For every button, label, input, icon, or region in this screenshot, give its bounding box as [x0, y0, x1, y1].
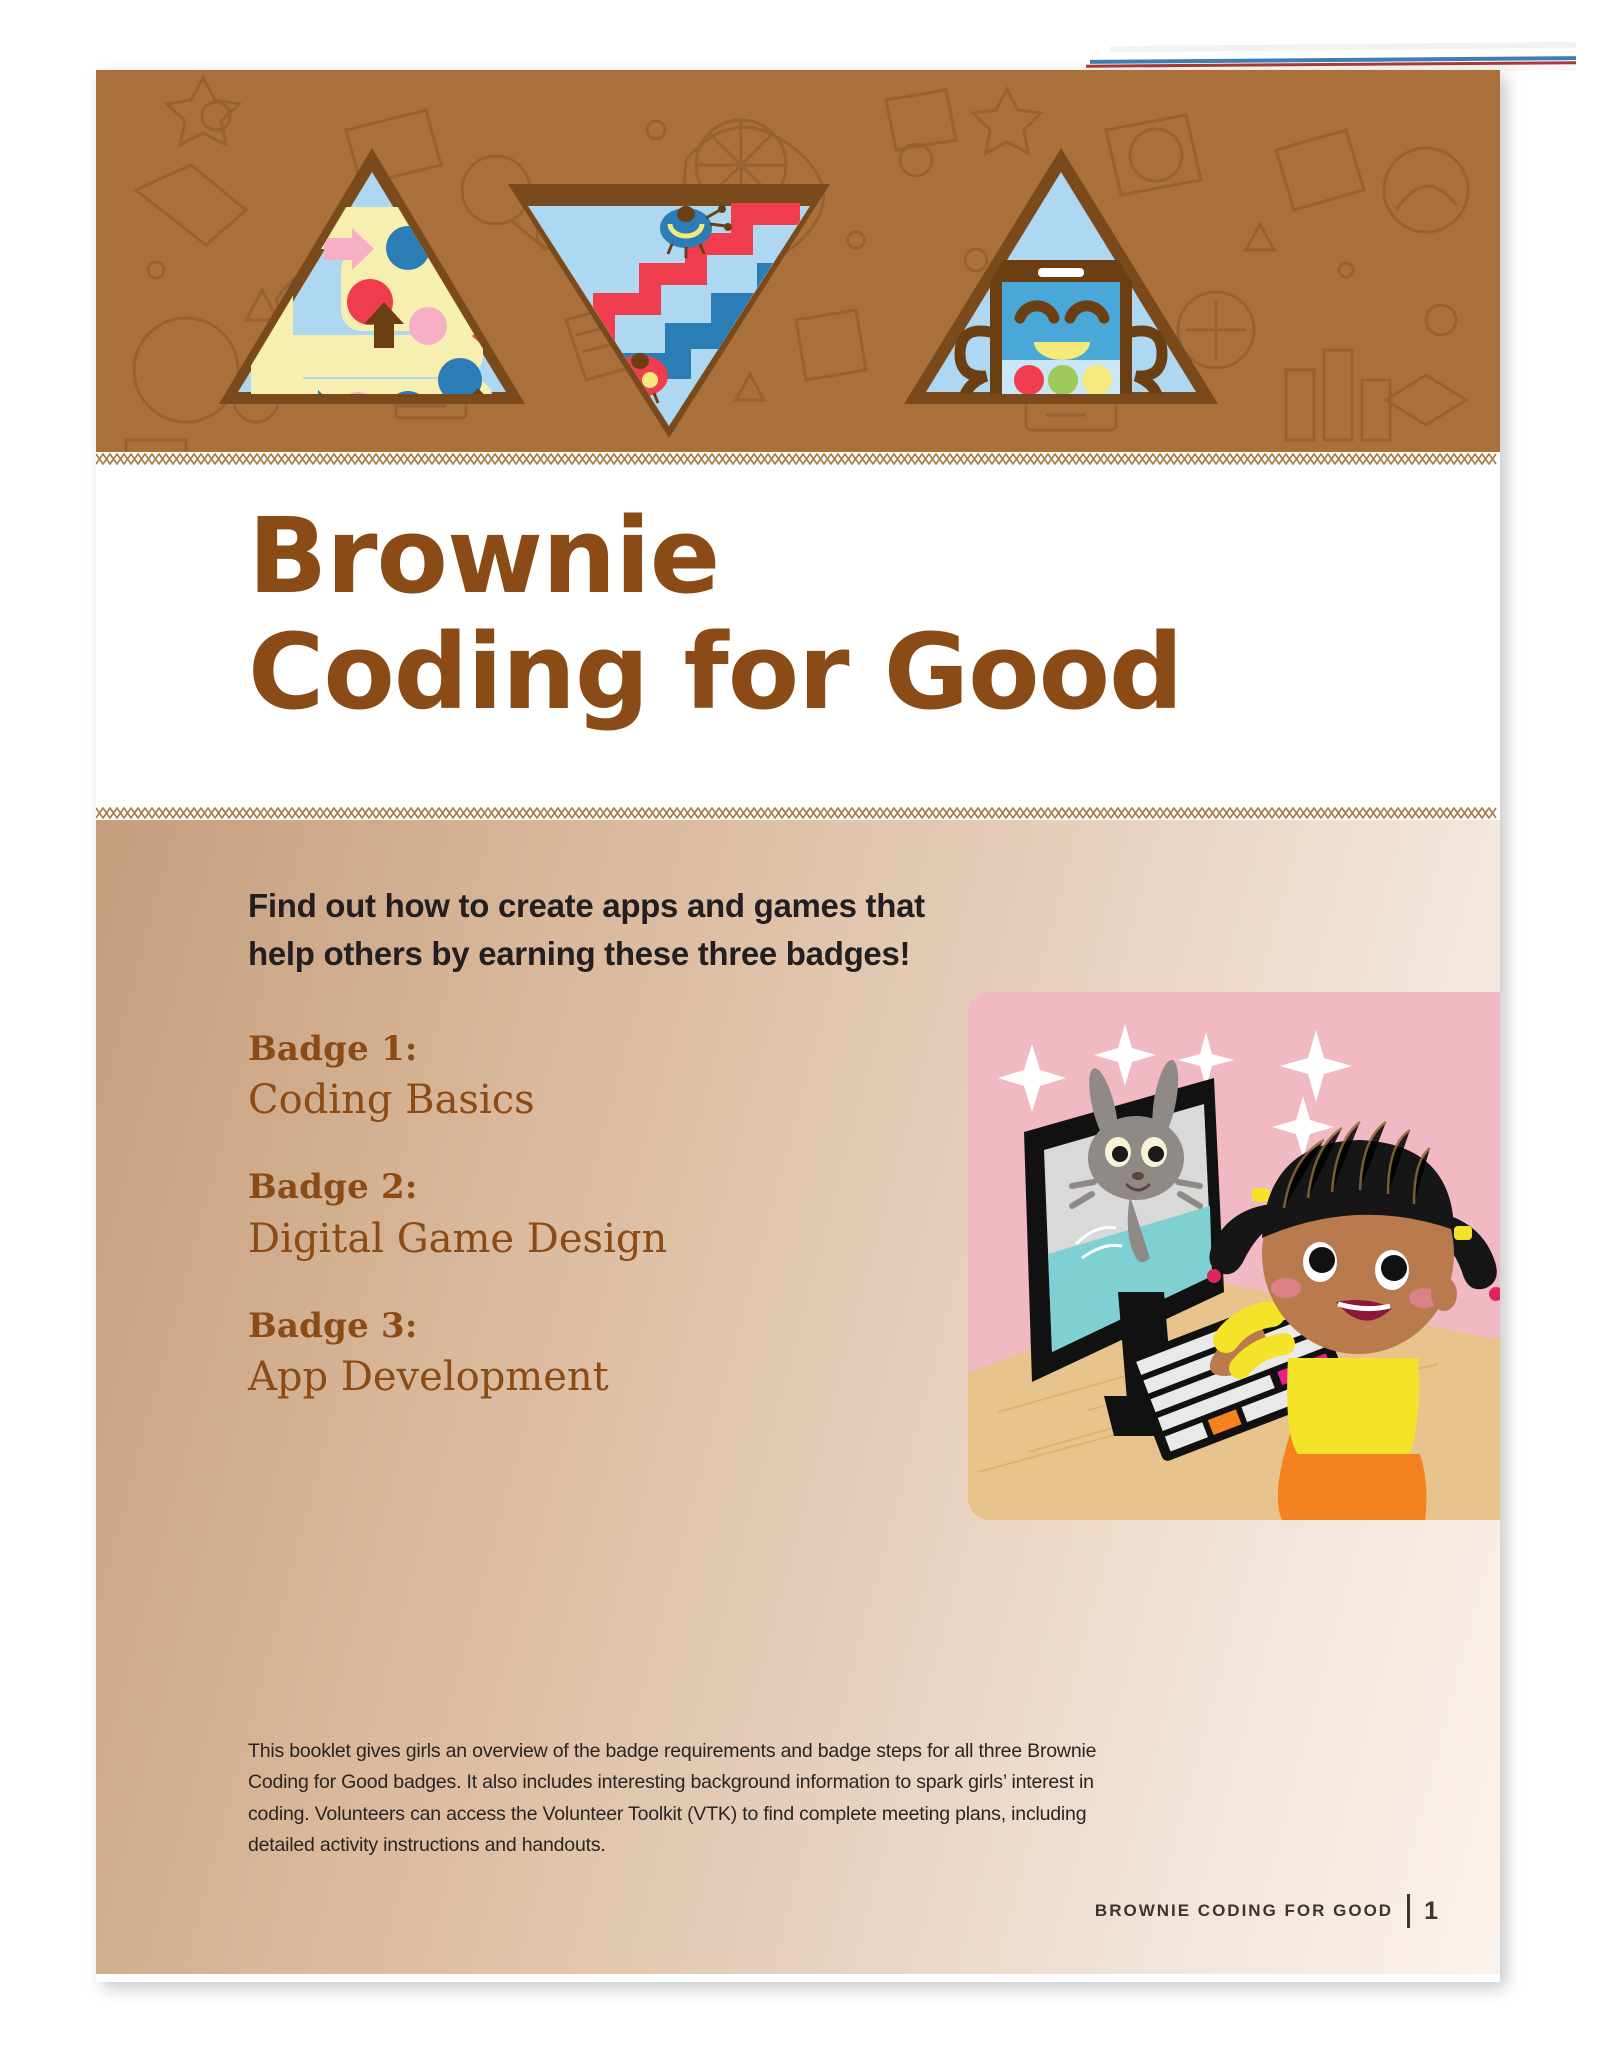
page-canvas: Brownie Coding for Good Find out how to … [0, 0, 1600, 2048]
badge-3-name: App Development [248, 1351, 868, 1403]
badge-2-name: Digital Game Design [248, 1213, 868, 1265]
badge-list: Badge 1: Coding Basics Badge 2: Digital … [248, 1028, 868, 1404]
badge-list-item-2: Badge 2: Digital Game Design [248, 1166, 868, 1265]
header-badge-app-development [896, 142, 1226, 410]
badge-3-label: Badge 3: [248, 1305, 868, 1348]
zigzag-divider-bottom [96, 806, 1500, 820]
badge-list-item-1: Badge 1: Coding Basics [248, 1028, 868, 1127]
page-number: 1 [1424, 1897, 1438, 1926]
running-head: BROWNIE CODING FOR GOOD [1095, 1901, 1393, 1921]
page-title-line1: Brownie [248, 498, 1500, 614]
zigzag-divider-top [96, 452, 1500, 466]
page-footer: BROWNIE CODING FOR GOOD 1 [1095, 1894, 1438, 1928]
content-section: Find out how to create apps and games th… [96, 820, 1500, 1974]
booklet-description: This booklet gives girls an overview of … [248, 1736, 1128, 1862]
badge-1-name: Coding Basics [248, 1074, 868, 1126]
header-band [96, 70, 1500, 452]
title-area: Brownie Coding for Good [96, 466, 1500, 806]
badge-list-item-3: Badge 3: App Development [248, 1305, 868, 1404]
footer-divider [1407, 1894, 1410, 1928]
girl-at-computer-illustration [968, 992, 1500, 1520]
page-title-line2: Coding for Good [248, 614, 1500, 730]
header-badge-digital-game-design [500, 170, 838, 446]
header-badge-coding-basics [212, 142, 532, 410]
intro-text: Find out how to create apps and games th… [248, 882, 928, 978]
badge-2-label: Badge 2: [248, 1166, 868, 1209]
badge-1-label: Badge 1: [248, 1028, 868, 1071]
booklet-cover-page: Brownie Coding for Good Find out how to … [96, 70, 1500, 1982]
